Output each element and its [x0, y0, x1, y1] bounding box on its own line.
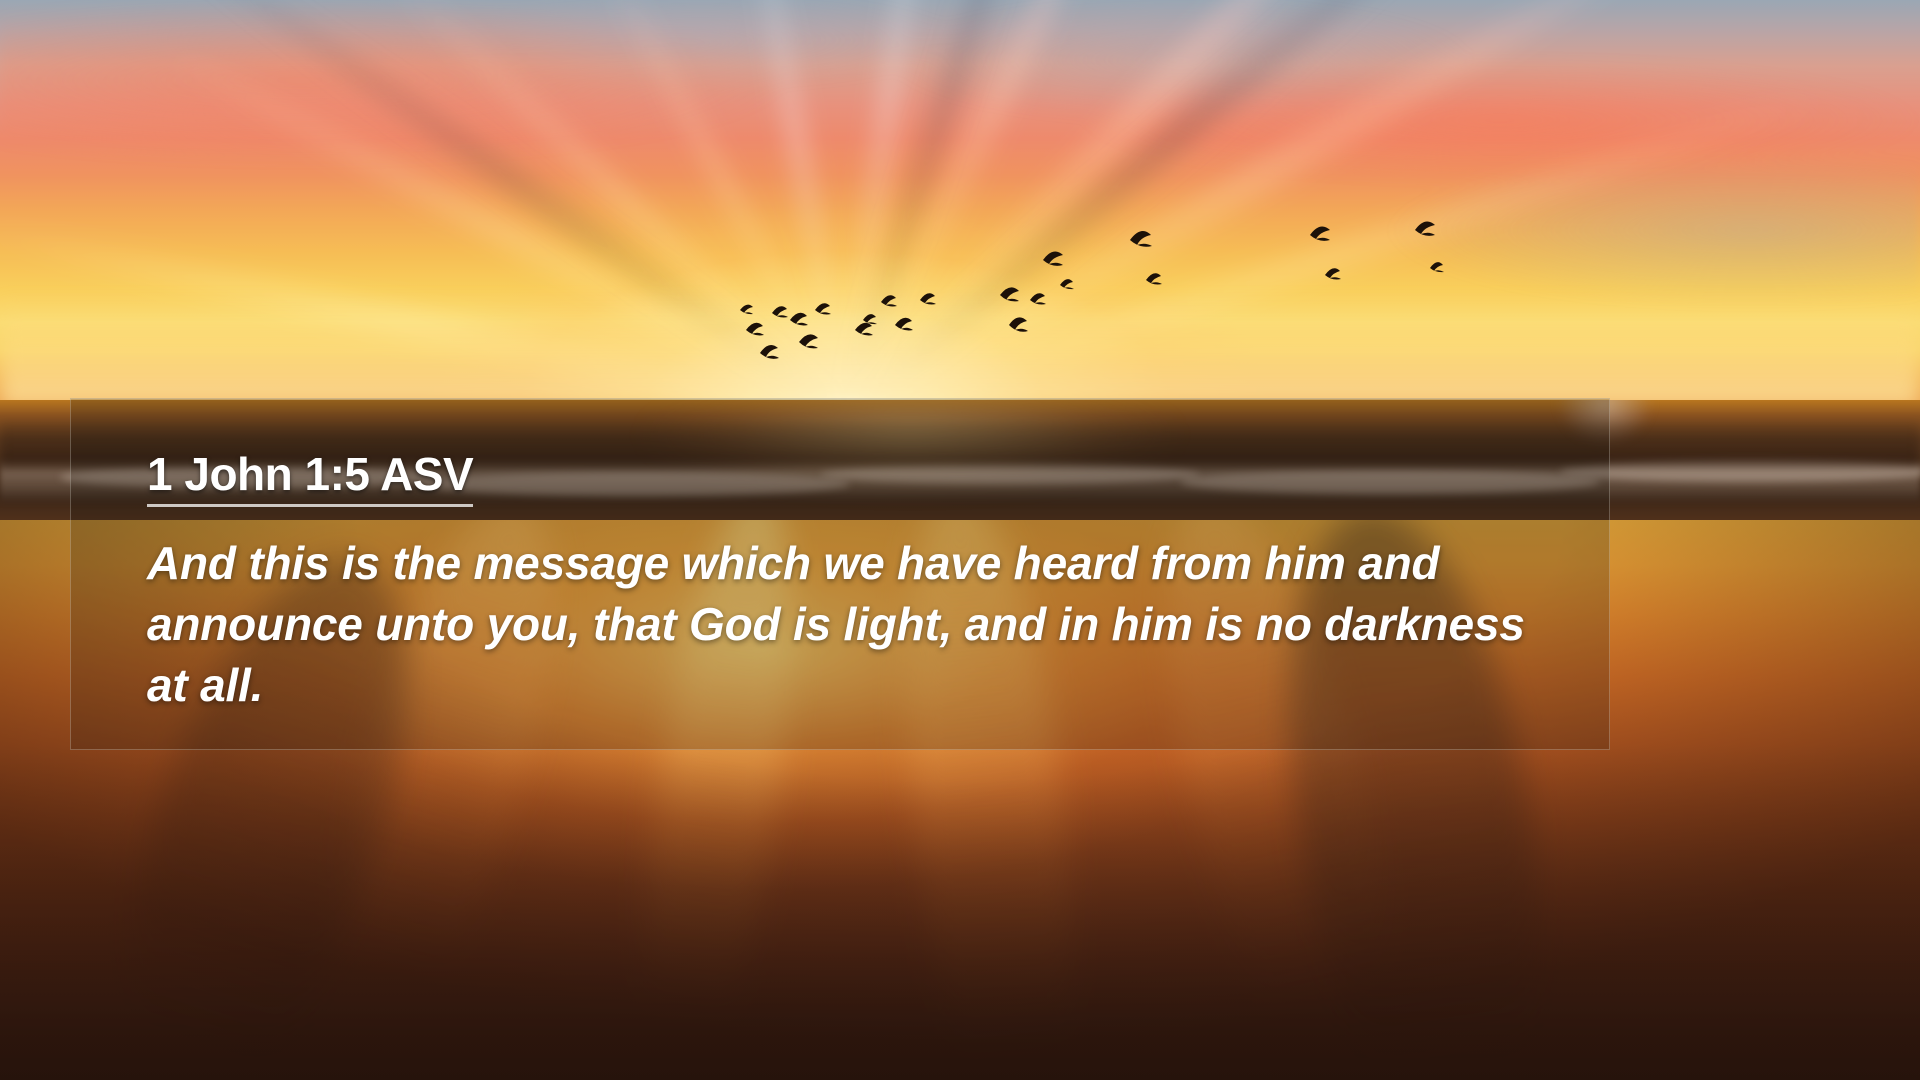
wallpaper-canvas: 1 John 1:5 ASV And this is the message w…	[0, 0, 1920, 1080]
horizon-haze	[0, 300, 1920, 408]
verse-overlay-panel: 1 John 1:5 ASV And this is the message w…	[70, 398, 1610, 750]
sky-layer	[0, 0, 1920, 408]
verse-reference: 1 John 1:5 ASV	[147, 451, 473, 507]
verse-text: And this is the message which we have he…	[147, 533, 1551, 717]
verse-reference-wrap: 1 John 1:5 ASV	[147, 451, 1551, 507]
